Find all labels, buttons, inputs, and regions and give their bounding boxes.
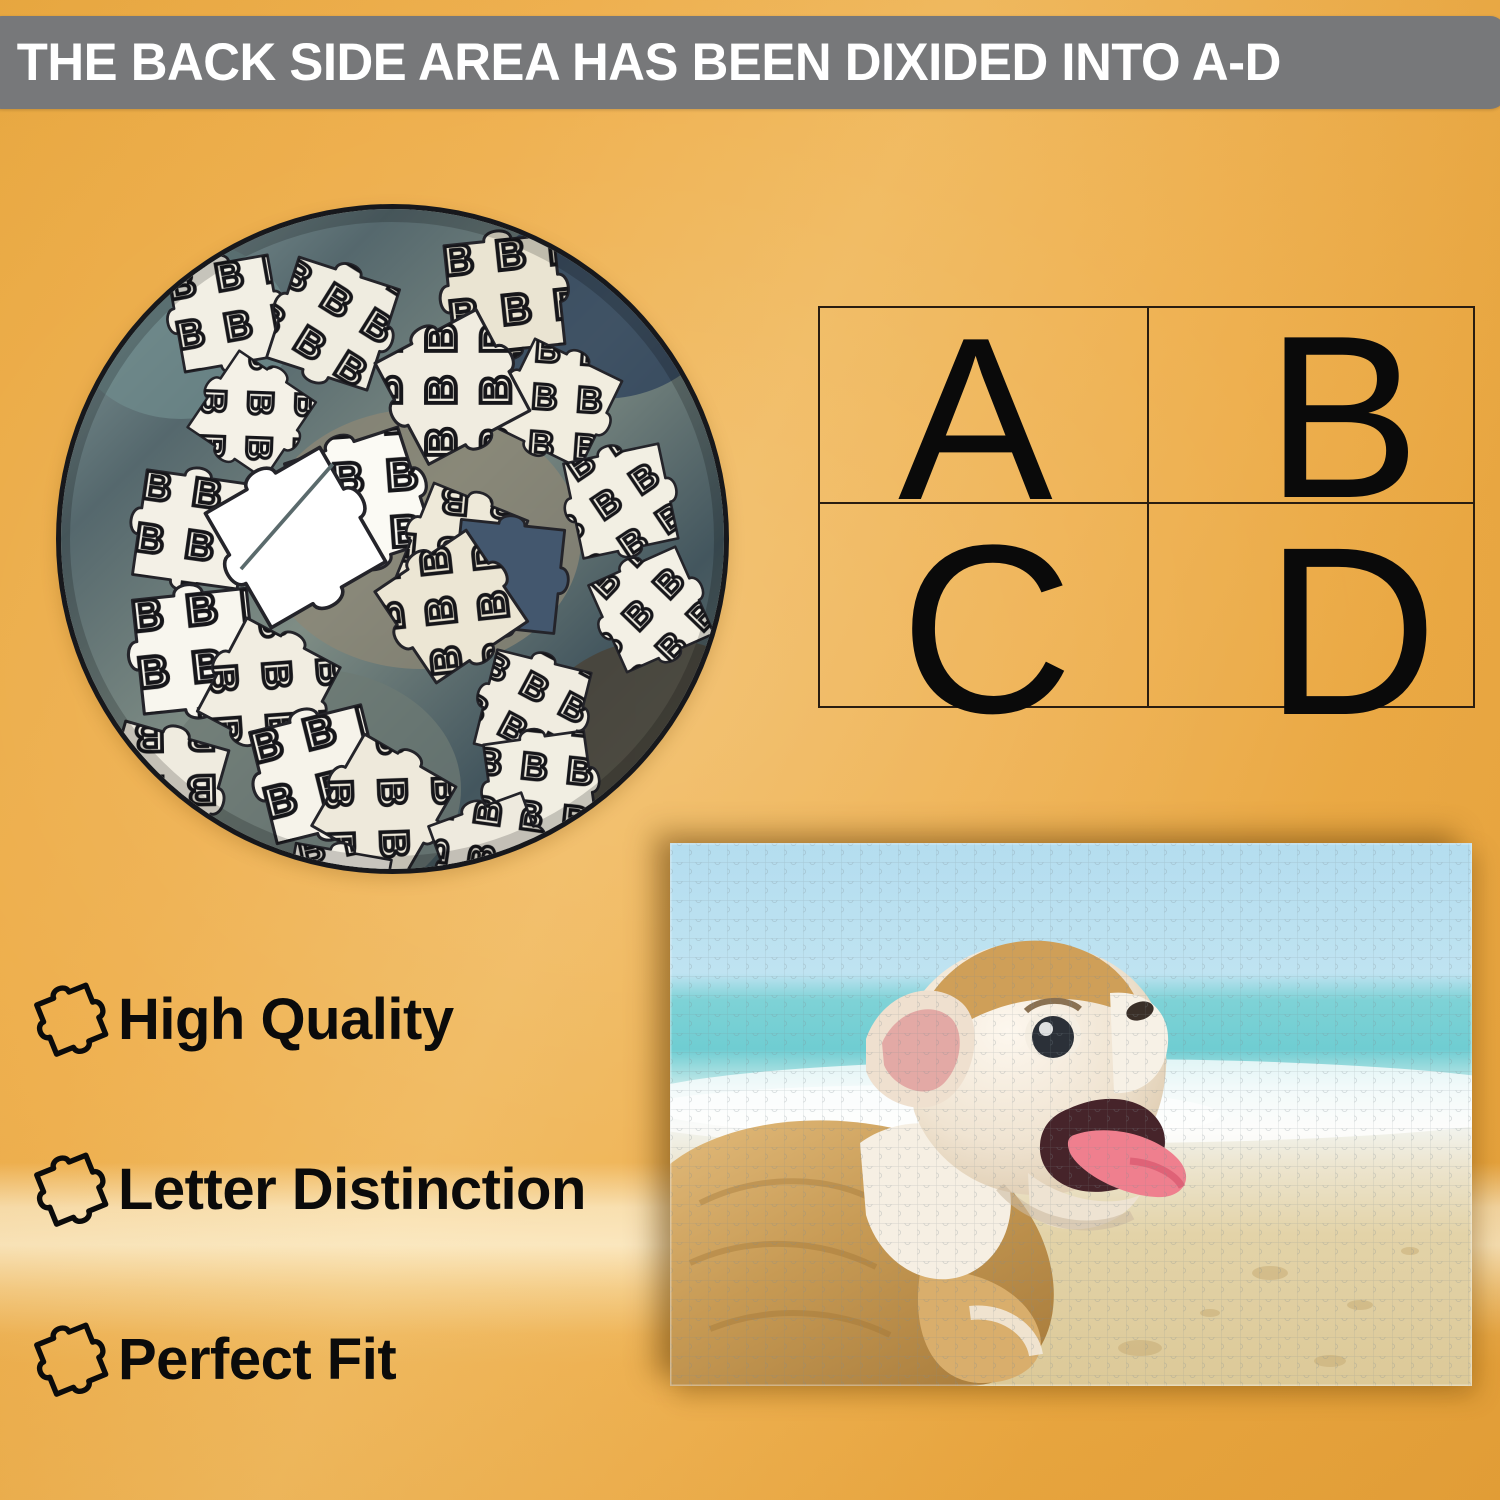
product-photo: [670, 843, 1472, 1386]
feature-item-high-quality: High Quality: [20, 985, 660, 1055]
header-banner: THE BACK SIDE AREA HAS BEEN DIXIDED INTO…: [0, 16, 1500, 109]
back-side-area-grid: A B C D: [818, 306, 1475, 708]
puzzle-piece-icon: [20, 977, 112, 1063]
puzzle-backs-image: B B B B B B: [61, 209, 724, 869]
feature-item-letter-distinction: Letter Distinction: [20, 1155, 660, 1225]
feature-label: Letter Distinction: [118, 1161, 586, 1219]
grid-cell-a: A: [820, 308, 1147, 502]
grid-cell-b: B: [1147, 308, 1474, 502]
page-title: THE BACK SIDE AREA HAS BEEN DIXIDED INTO…: [0, 36, 1281, 89]
feature-item-perfect-fit: Perfect Fit: [20, 1325, 660, 1395]
bulldog-illustration: [670, 843, 1472, 1386]
grid-label-d: D: [1265, 511, 1438, 751]
feature-list: High Quality Letter Distinction Perfect …: [20, 985, 660, 1395]
puzzle-piece-icon: [20, 1147, 112, 1233]
feature-label: High Quality: [118, 991, 454, 1049]
feature-label: Perfect Fit: [118, 1331, 396, 1389]
puzzle-piece-icon: [20, 1317, 112, 1403]
puzzle-backs-photo: B B B B B B: [56, 204, 729, 874]
grid-label-c: C: [900, 509, 1073, 749]
grid-cell-c: C: [820, 502, 1147, 696]
puzzle-backs-illustration: B B B B B B: [61, 209, 724, 869]
bulldog-beach-puzzle-image: [670, 843, 1472, 1386]
grid-cell-d: D: [1147, 502, 1474, 696]
